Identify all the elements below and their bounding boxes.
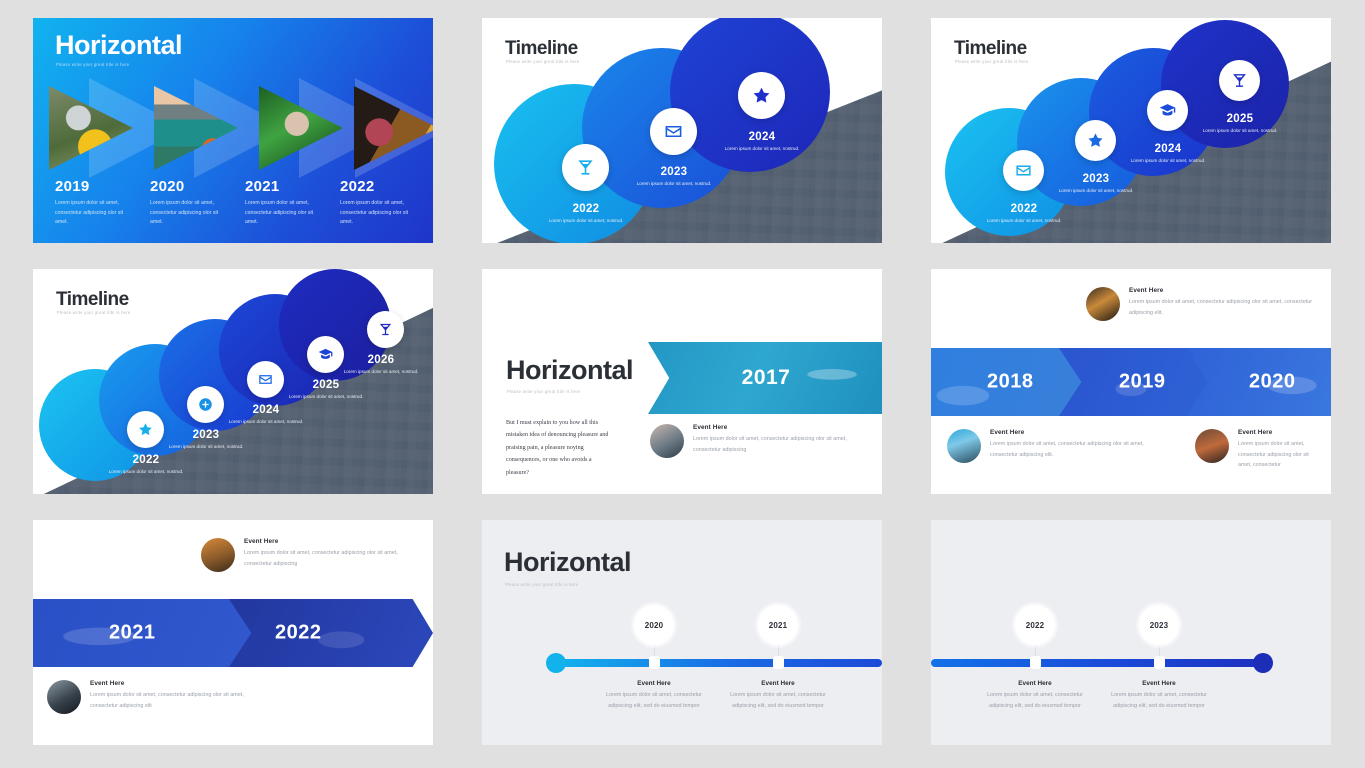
year-ribbon-banner[interactable]: 2017 bbox=[648, 342, 882, 414]
year-label: 2024 bbox=[1108, 143, 1228, 155]
slide-2-timeline-three[interactable]: 2022 Lorem ipsum dolor sit amet, nostrud… bbox=[482, 18, 882, 243]
event-heading: Event Here bbox=[1129, 287, 1321, 294]
timeline-node[interactable]: 2021 bbox=[758, 605, 798, 645]
event-card[interactable]: Event Here Lorem ipsum dolor sit amet, c… bbox=[650, 424, 865, 458]
page-title: Horizontal bbox=[55, 30, 182, 61]
event-desc: Lorem ipsum dolor sit amet, consectetur … bbox=[1129, 297, 1321, 318]
node-chip bbox=[773, 656, 784, 669]
event-heading: Event Here bbox=[594, 680, 714, 687]
event-desc: Lorem ipsum dolor sit amet, consectetur … bbox=[90, 690, 252, 711]
body-paragraph: But I must explain to you how all this m… bbox=[506, 417, 614, 479]
year-desc: Lorem ipsum dolor sit amet, nostrud. bbox=[86, 469, 206, 474]
year-label: 2024 bbox=[699, 131, 825, 143]
node-chip bbox=[649, 656, 660, 669]
year-label: 2022 bbox=[86, 454, 206, 466]
year-label: 2019 bbox=[55, 178, 129, 195]
timeline-node[interactable]: 2023 bbox=[1139, 605, 1179, 645]
year-desc: Lorem ipsum dolor sit amet, consectetur … bbox=[150, 199, 224, 228]
page-subtitle: Please write your great title is here bbox=[955, 59, 1029, 64]
event-text: Event Here Lorem ipsum dolor sit amet, c… bbox=[244, 538, 426, 572]
band-year-label: 2020 bbox=[1249, 371, 1296, 394]
year-desc: Lorem ipsum dolor sit amet, nostrud. bbox=[1036, 188, 1156, 193]
year-desc: Lorem ipsum dolor sit amet, nostrud. bbox=[523, 218, 649, 223]
progress-track[interactable] bbox=[931, 659, 1271, 667]
cocktail-icon[interactable] bbox=[367, 311, 404, 348]
timeline-label: 2023 Lorem ipsum dolor sit amet, nostrud… bbox=[146, 429, 266, 449]
event-heading: Event Here bbox=[1099, 680, 1219, 687]
cocktail-icon[interactable] bbox=[1219, 60, 1260, 101]
ribbon-year-label: 2017 bbox=[742, 366, 791, 390]
year-desc: Lorem ipsum dolor sit amet, nostrud. bbox=[611, 181, 737, 186]
city-skyline-avatar bbox=[47, 680, 81, 714]
event-desc: Lorem ipsum dolor sit amet, consectetur … bbox=[1238, 439, 1323, 471]
band-year-label: 2021 bbox=[109, 622, 156, 645]
event-card[interactable]: Event Here Lorem ipsum dolor sit amet, c… bbox=[1086, 287, 1321, 321]
year-desc: Lorem ipsum dolor sit amet, nostrud. bbox=[964, 218, 1084, 223]
beach-man-avatar bbox=[947, 429, 981, 463]
year-label: 2021 bbox=[245, 178, 319, 195]
progress-track[interactable] bbox=[552, 659, 882, 667]
page-title: Timeline bbox=[954, 38, 1027, 60]
event-text: Event Here Lorem ipsum dolor sit amet, c… bbox=[1238, 429, 1323, 471]
year-desc: Lorem ipsum dolor sit amet, nostrud. bbox=[266, 394, 386, 399]
street-photo-avatar bbox=[650, 424, 684, 458]
timeline-label: 2023 Lorem ipsum dolor sit amet, nostrud… bbox=[611, 166, 737, 186]
year-label: 2023 bbox=[611, 166, 737, 178]
slide-3-timeline-four[interactable]: 2022 Lorem ipsum dolor sit amet, nostrud… bbox=[931, 18, 1331, 243]
timeline-node[interactable]: 2022 bbox=[1015, 605, 1055, 645]
timeline-label: 2022 Lorem ipsum dolor sit amet, nostrud… bbox=[964, 203, 1084, 223]
star-icon[interactable] bbox=[738, 72, 785, 119]
event-text: Event Here Lorem ipsum dolor sit amet, c… bbox=[693, 424, 865, 458]
triangle-item[interactable] bbox=[49, 78, 161, 178]
year-label: 2020 bbox=[150, 178, 224, 195]
year-label: 2023 bbox=[1036, 173, 1156, 185]
year-label: 2024 bbox=[206, 404, 326, 416]
page-title: Horizontal bbox=[504, 547, 631, 578]
page-subtitle: Please write your great title is here bbox=[505, 582, 579, 587]
year-label: 2026 bbox=[321, 354, 433, 366]
year-caption-row: 2019 Lorem ipsum dolor sit amet, consect… bbox=[55, 178, 433, 228]
monument-avatar bbox=[1086, 287, 1120, 321]
node-year-label: 2022 bbox=[1026, 621, 1045, 630]
event-heading: Event Here bbox=[244, 538, 426, 545]
timeline-label: 2022 Lorem ipsum dolor sit amet, nostrud… bbox=[86, 454, 206, 474]
triangle-item[interactable] bbox=[315, 78, 427, 178]
event-heading: Event Here bbox=[1238, 429, 1323, 436]
page-title: Horizontal bbox=[506, 355, 633, 386]
timeline-label: 2022 Lorem ipsum dolor sit amet, nostrud… bbox=[523, 203, 649, 223]
event-heading: Event Here bbox=[693, 424, 865, 431]
page-title: Timeline bbox=[505, 38, 578, 60]
slide-6-arrow-band-three[interactable]: Event Here Lorem ipsum dolor sit amet, c… bbox=[931, 269, 1331, 494]
year-desc: Lorem ipsum dolor sit amet, nostrud. bbox=[1108, 158, 1228, 163]
year-desc: Lorem ipsum dolor sit amet, nostrud. bbox=[206, 419, 326, 424]
event-caption: Event Here Lorem ipsum dolor sit amet, c… bbox=[718, 680, 838, 711]
timeline-label: 2025 Lorem ipsum dolor sit amet, nostrud… bbox=[266, 379, 386, 399]
event-desc: Lorem ipsum dolor sit amet, consectetur … bbox=[244, 548, 426, 569]
event-card[interactable]: Event Here Lorem ipsum dolor sit amet, c… bbox=[947, 429, 1152, 463]
event-card[interactable]: Event Here Lorem ipsum dolor sit amet, c… bbox=[47, 680, 252, 714]
timeline-label: 2025 Lorem ipsum dolor sit amet, nostrud… bbox=[1180, 113, 1300, 133]
desert-avatar bbox=[201, 538, 235, 572]
event-desc: Lorem ipsum dolor sit amet, consectetur … bbox=[693, 434, 865, 455]
triangle-photo-row bbox=[49, 78, 419, 178]
node-year-label: 2020 bbox=[645, 621, 664, 630]
page-title: Timeline bbox=[56, 289, 129, 311]
timeline-label: 2026 Lorem ipsum dolor sit amet, nostrud… bbox=[321, 354, 433, 374]
page-subtitle: Please write your great title is here bbox=[507, 389, 581, 394]
event-heading: Event Here bbox=[90, 680, 252, 687]
arrow-segment bbox=[229, 599, 433, 667]
celebration-avatar bbox=[1195, 429, 1229, 463]
timeline-node[interactable]: 2020 bbox=[634, 605, 674, 645]
year-arrow-band[interactable]: 2018 2019 2020 bbox=[931, 348, 1331, 416]
timeline-label: 2024 Lorem ipsum dolor sit amet, nostrud… bbox=[206, 404, 326, 424]
slide-grid: Horizontal Please write your great title… bbox=[0, 0, 1365, 768]
envelope-icon[interactable] bbox=[650, 108, 697, 155]
year-desc: Lorem ipsum dolor sit amet, consectetur … bbox=[245, 199, 319, 228]
page-subtitle: Please write your great title is here bbox=[506, 59, 580, 64]
year-label: 2025 bbox=[266, 379, 386, 391]
slide-7-arrow-band-two[interactable]: Event Here Lorem ipsum dolor sit amet, c… bbox=[33, 520, 433, 745]
year-desc: Lorem ipsum dolor sit amet, nostrud. bbox=[1180, 128, 1300, 133]
event-card[interactable]: Event Here Lorem ipsum dolor sit amet, c… bbox=[1195, 429, 1323, 471]
node-year-label: 2021 bbox=[769, 621, 788, 630]
page-subtitle: Please write your great title is here bbox=[56, 62, 130, 67]
timeline-label: 2024 Lorem ipsum dolor sit amet, nostrud… bbox=[1108, 143, 1228, 163]
year-desc: Lorem ipsum dolor sit amet, nostrud. bbox=[321, 369, 433, 374]
event-text: Event Here Lorem ipsum dolor sit amet, c… bbox=[90, 680, 252, 714]
slide-1-horizontal-triangles[interactable]: Horizontal Please write your great title… bbox=[33, 18, 433, 243]
year-label: 2022 bbox=[964, 203, 1084, 215]
track-end-cap bbox=[1253, 653, 1273, 673]
page-subtitle: Please write your great title is here bbox=[57, 310, 131, 315]
band-year-label: 2022 bbox=[275, 622, 322, 645]
slide-5-horizontal-ribbon[interactable]: Horizontal Please write your great title… bbox=[482, 269, 882, 494]
event-desc: Lorem ipsum dolor sit amet, consectetur … bbox=[990, 439, 1152, 460]
event-caption: Event Here Lorem ipsum dolor sit amet, c… bbox=[594, 680, 714, 711]
node-chip bbox=[1030, 656, 1041, 669]
node-year-label: 2023 bbox=[1150, 621, 1169, 630]
event-card[interactable]: Event Here Lorem ipsum dolor sit amet, c… bbox=[201, 538, 426, 572]
timeline-label: 2024 Lorem ipsum dolor sit amet, nostrud… bbox=[699, 131, 825, 151]
year-caption[interactable]: 2022 Lorem ipsum dolor sit amet, consect… bbox=[340, 178, 414, 228]
year-desc: Lorem ipsum dolor sit amet, nostrud. bbox=[146, 444, 266, 449]
slide-8-progress-timeline-start[interactable]: Horizontal Please write your great title… bbox=[482, 520, 882, 745]
event-caption: Event Here Lorem ipsum dolor sit amet, c… bbox=[975, 680, 1095, 711]
event-desc: Lorem ipsum dolor sit amet, consectetur … bbox=[1099, 690, 1219, 711]
slide-4-timeline-five[interactable]: 2022 Lorem ipsum dolor sit amet, nostrud… bbox=[33, 269, 433, 494]
event-desc: Lorem ipsum dolor sit amet, consectetur … bbox=[594, 690, 714, 711]
event-heading: Event Here bbox=[975, 680, 1095, 687]
slide-9-progress-timeline-end[interactable]: 2022 Event Here Lorem ipsum dolor sit am… bbox=[931, 520, 1331, 745]
event-caption: Event Here Lorem ipsum dolor sit amet, c… bbox=[1099, 680, 1219, 711]
year-label: 2022 bbox=[523, 203, 649, 215]
event-desc: Lorem ipsum dolor sit amet, consectetur … bbox=[718, 690, 838, 711]
event-text: Event Here Lorem ipsum dolor sit amet, c… bbox=[1129, 287, 1321, 321]
triangle-item[interactable] bbox=[154, 78, 266, 178]
band-year-label: 2018 bbox=[987, 371, 1034, 394]
node-chip bbox=[1154, 656, 1165, 669]
timeline-label: 2023 Lorem ipsum dolor sit amet, nostrud… bbox=[1036, 173, 1156, 193]
event-heading: Event Here bbox=[990, 429, 1152, 436]
year-desc: Lorem ipsum dolor sit amet, consectetur … bbox=[55, 199, 129, 228]
year-label: 2025 bbox=[1180, 113, 1300, 125]
year-caption[interactable]: 2021 Lorem ipsum dolor sit amet, consect… bbox=[245, 178, 319, 228]
year-desc: Lorem ipsum dolor sit amet, nostrud. bbox=[699, 146, 825, 151]
event-heading: Event Here bbox=[718, 680, 838, 687]
year-label: 2023 bbox=[146, 429, 266, 441]
track-start-cap bbox=[546, 653, 566, 673]
year-label: 2022 bbox=[340, 178, 414, 195]
event-text: Event Here Lorem ipsum dolor sit amet, c… bbox=[990, 429, 1152, 463]
cocktail-icon[interactable] bbox=[562, 144, 609, 191]
band-year-label: 2019 bbox=[1119, 371, 1166, 394]
year-desc: Lorem ipsum dolor sit amet, consectetur … bbox=[340, 199, 414, 228]
year-arrow-band[interactable]: 2021 2022 bbox=[33, 599, 433, 667]
year-caption[interactable]: 2019 Lorem ipsum dolor sit amet, consect… bbox=[55, 178, 129, 228]
year-caption[interactable]: 2020 Lorem ipsum dolor sit amet, consect… bbox=[150, 178, 224, 228]
event-desc: Lorem ipsum dolor sit amet, consectetur … bbox=[975, 690, 1095, 711]
